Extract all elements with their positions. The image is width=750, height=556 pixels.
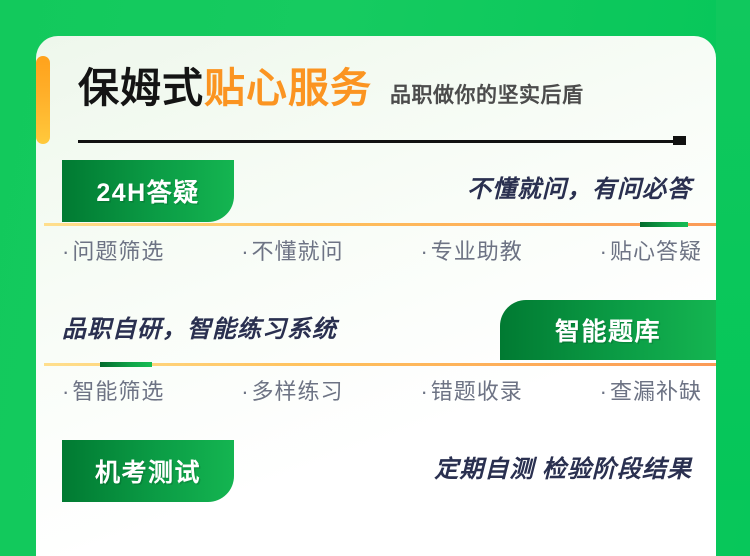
feature-label: 不懂就问 bbox=[252, 239, 344, 264]
feature-item: ·多样练习 bbox=[241, 374, 343, 406]
badge-label: 智能题库 bbox=[555, 312, 661, 348]
underline-green-segment bbox=[100, 362, 152, 367]
feature-list-24h: ·问题筛选 ·不懂就问 ·专业助教 ·贴心答疑 bbox=[62, 234, 702, 266]
badge-label: 24H答疑 bbox=[96, 173, 199, 209]
bullet-dot: · bbox=[62, 239, 70, 264]
underline-orange bbox=[44, 223, 716, 226]
feature-label: 多样练习 bbox=[252, 379, 344, 404]
feature-label: 问题筛选 bbox=[72, 239, 164, 264]
page-title: 保姆式贴心服务 bbox=[78, 58, 372, 118]
headline-mock-exam: 定期自测 检验阶段结果 bbox=[434, 440, 692, 500]
feature-item: ·错题收录 bbox=[420, 374, 522, 406]
feature-item: ·问题筛选 bbox=[62, 234, 164, 266]
bullet-dot: · bbox=[600, 379, 608, 404]
headline-24h: 不懂就问，有问必答 bbox=[467, 160, 692, 220]
bullet-dot: · bbox=[420, 239, 428, 264]
header: 保姆式贴心服务 品职做你的坚实后盾 bbox=[78, 58, 698, 145]
section-question-bank: 智能题库 品职自研，智能练习系统 ·智能筛选 ·多样练习 ·错题收录 ·查漏补缺 bbox=[36, 300, 716, 440]
feature-item: ·专业助教 bbox=[420, 234, 522, 266]
feature-label: 贴心答疑 bbox=[610, 239, 702, 264]
section-mock-exam: 机考测试 定期自测 检验阶段结果 bbox=[36, 440, 716, 550]
feature-item: ·智能筛选 bbox=[62, 374, 164, 406]
divider-end-cap bbox=[673, 136, 686, 145]
underline-24h bbox=[44, 222, 716, 226]
divider-line bbox=[78, 140, 674, 143]
badge-mock-exam[interactable]: 机考测试 bbox=[62, 440, 234, 502]
feature-label: 专业助教 bbox=[431, 239, 523, 264]
badge-24h[interactable]: 24H答疑 bbox=[62, 160, 234, 222]
bullet-dot: · bbox=[62, 379, 70, 404]
badge-label: 机考测试 bbox=[95, 453, 201, 489]
feature-item: ·不懂就问 bbox=[241, 234, 343, 266]
bullet-dot: · bbox=[420, 379, 428, 404]
bullet-dot: · bbox=[600, 239, 608, 264]
feature-item: ·查漏补缺 bbox=[600, 374, 702, 406]
right-green-edge bbox=[716, 0, 750, 500]
orange-accent-bar bbox=[36, 56, 50, 144]
bullet-dot: · bbox=[241, 379, 249, 404]
bullet-dot: · bbox=[241, 239, 249, 264]
feature-item: ·贴心答疑 bbox=[600, 234, 702, 266]
feature-label: 查漏补缺 bbox=[610, 379, 702, 404]
title-part-primary: 保姆式 bbox=[78, 65, 204, 111]
section-24h: 24H答疑 不懂就问，有问必答 ·问题筛选 ·不懂就问 ·专业助教 ·贴心答疑 bbox=[36, 160, 716, 300]
page-subtitle: 品职做你的坚实后盾 bbox=[390, 66, 584, 126]
feature-label: 错题收录 bbox=[431, 379, 523, 404]
badge-question-bank[interactable]: 智能题库 bbox=[500, 300, 716, 360]
content-card: 保姆式贴心服务 品职做你的坚实后盾 24H答疑 不懂就问，有问必答 ·问题筛选 … bbox=[36, 36, 716, 556]
headline-question-bank: 品职自研，智能练习系统 bbox=[62, 300, 337, 360]
feature-list-question-bank: ·智能筛选 ·多样练习 ·错题收录 ·查漏补缺 bbox=[62, 374, 702, 406]
underline-question-bank bbox=[44, 362, 716, 366]
header-divider bbox=[78, 136, 686, 145]
title-row: 保姆式贴心服务 品职做你的坚实后盾 bbox=[78, 58, 698, 118]
underline-green-segment bbox=[640, 222, 688, 227]
title-part-accent: 贴心服务 bbox=[204, 65, 372, 111]
feature-label: 智能筛选 bbox=[72, 379, 164, 404]
